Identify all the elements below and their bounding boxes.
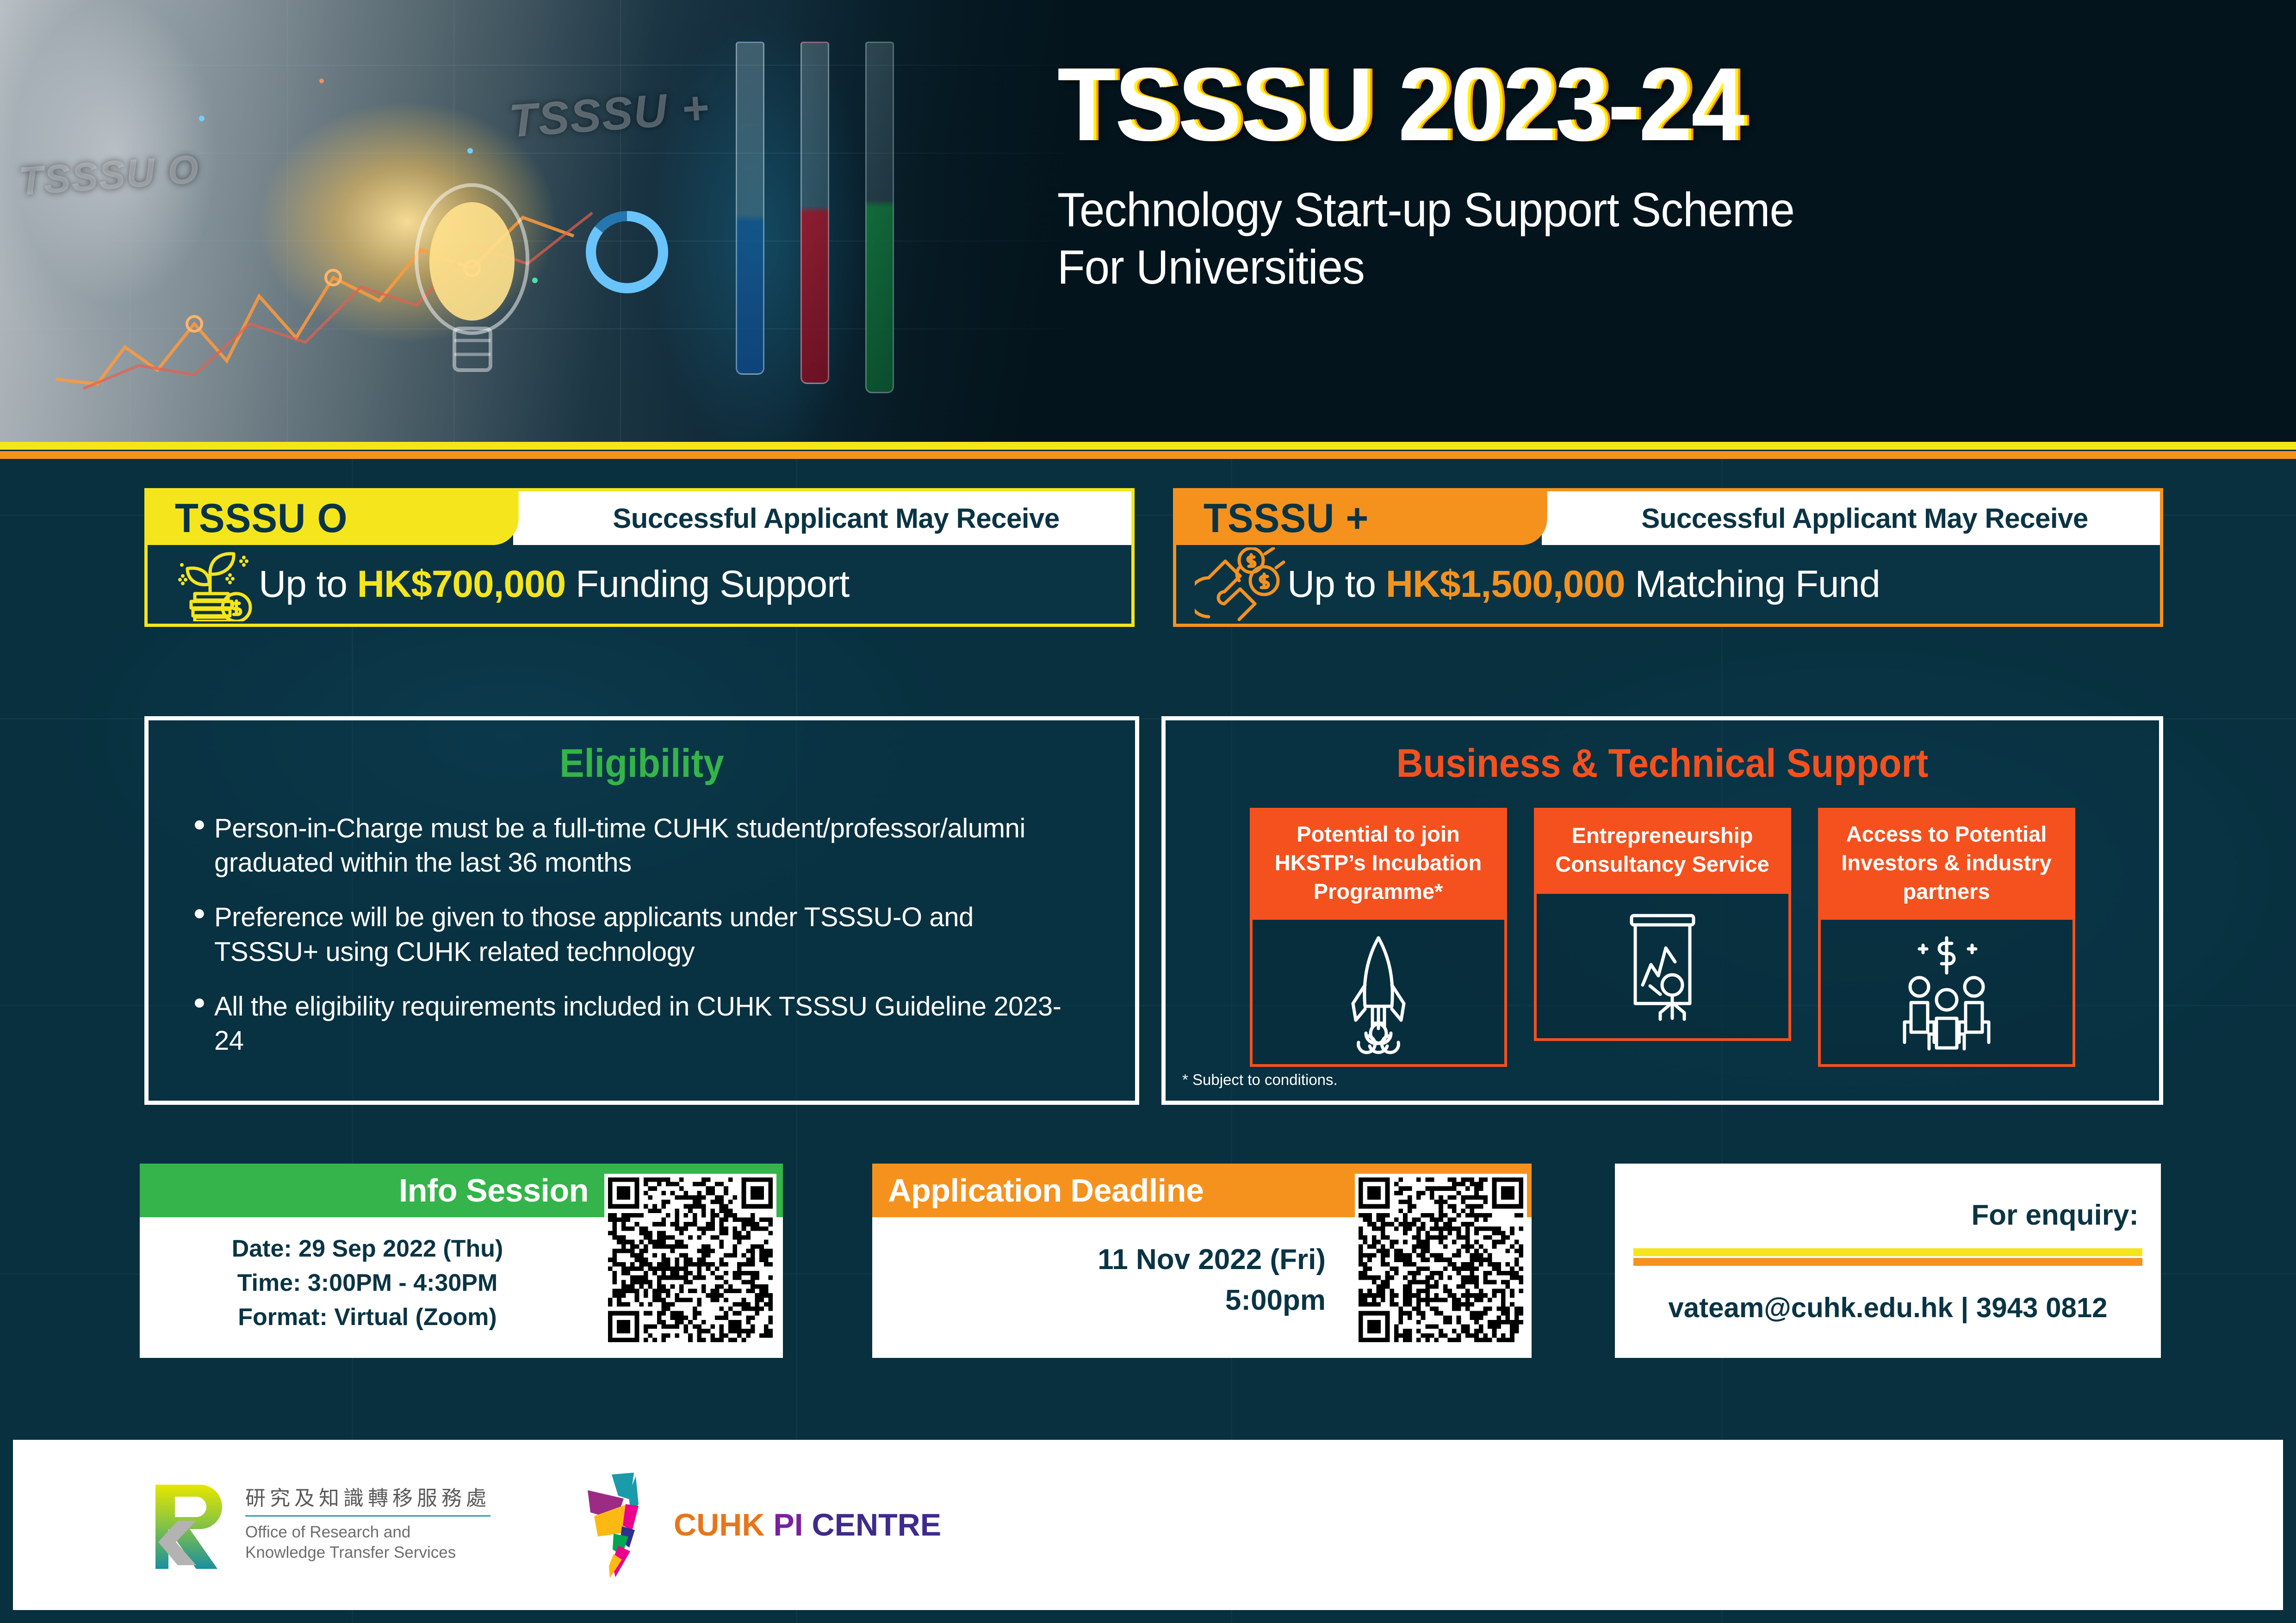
funding-subtitle-tsssu-o: Successful Applicant May Receive: [513, 491, 1131, 545]
orkts-text: 研究及知識轉移服務處 Office of Research and Knowle…: [245, 1487, 490, 1563]
support-panel: Business & Technical Support Potential t…: [1161, 716, 2163, 1105]
amount-suffix: Funding Support: [565, 563, 849, 605]
presentation-chart-icon: [1534, 894, 1791, 1041]
footer-logos: 研究及知識轉移服務處 Office of Research and Knowle…: [13, 1440, 2283, 1610]
money-plant-icon: [166, 547, 259, 621]
support-title: Business & Technical Support: [1200, 741, 2124, 787]
list-item-text: Person-in-Charge must be a full-time CUH…: [214, 811, 1075, 880]
hero-banner: TSSSU O TSSSU + TSSSU 2023-24 Technology…: [0, 0, 2296, 442]
hero-photo: TSSSU O TSSSU +: [0, 0, 1064, 442]
amount-suffix: Matching Fund: [1625, 563, 1880, 605]
orkts-logo: 研究及知識轉移服務處 Office of Research and Knowle…: [152, 1481, 490, 1569]
list-item: ● Preference will be given to those appl…: [193, 900, 1135, 969]
pi-centre-bird-logo-icon: [574, 1472, 666, 1578]
pi-centre-pi: PI: [773, 1507, 803, 1542]
qr-code-application[interactable]: [1355, 1174, 1527, 1346]
support-card-investors: Access to Potential Investors & industry…: [1818, 808, 2075, 1067]
lightbulb-icon: [352, 176, 592, 393]
eligibility-list: ● Person-in-Charge must be a full-time C…: [193, 811, 1135, 1058]
hero-text-block: TSSSU 2023-24 Technology Start-up Suppor…: [1057, 53, 2260, 297]
bullet-icon: ●: [193, 990, 214, 1058]
pi-centre-logo: CUHK PI CENTRE: [574, 1472, 941, 1578]
application-deadline-box: Application Deadline 11 Nov 2022 (Fri) 5…: [872, 1164, 1532, 1358]
qr-code-info-session[interactable]: [604, 1174, 776, 1346]
amount-prefix: Up to: [259, 563, 357, 605]
pi-centre-centre: CENTRE: [812, 1507, 942, 1542]
funding-amount-tsssu-o: Up to HK$700,000 Funding Support: [259, 563, 849, 606]
support-card-label: Entrepreneurship Consultancy Service: [1534, 808, 1791, 894]
donut-gauge-icon: [574, 199, 680, 305]
subtitle-line-1: Technology Start-up Support Scheme: [1057, 181, 2188, 239]
pi-centre-cuhk: CUHK: [674, 1507, 764, 1542]
list-item-text: Preference will be given to those applic…: [214, 900, 1075, 969]
list-item-text: All the eligibility requirements include…: [214, 990, 1075, 1058]
enquiry-stripe-orange: [1633, 1258, 2142, 1266]
list-item: ● All the eligibility requirements inclu…: [193, 990, 1135, 1058]
support-card-consultancy: Entrepreneurship Consultancy Service: [1534, 808, 1791, 1067]
enquiry-box: For enquiry: vateam@cuhk.edu.hk | 3943 0…: [1615, 1164, 2161, 1358]
info-session-date: Date: 29 Sep 2022 (Thu): [160, 1232, 575, 1266]
funding-tag-tsssu-o: TSSSU O: [148, 491, 495, 545]
divider-stripe-yellow: [0, 442, 2296, 450]
eligibility-title: Eligibility: [183, 741, 1101, 787]
orkts-english-line-1: Office of Research and: [245, 1522, 490, 1542]
amount-prefix: Up to: [1287, 563, 1386, 605]
funding-amount-tsssu-plus: Up to HK$1,500,000 Matching Fund: [1287, 563, 1880, 606]
list-item: ● Person-in-Charge must be a full-time C…: [193, 811, 1135, 880]
info-session-format: Format: Virtual (Zoom): [160, 1301, 575, 1335]
support-card-label: Access to Potential Investors & industry…: [1818, 808, 2075, 920]
amount-value: HK$700,000: [357, 563, 565, 605]
divider-stripe-orange: [0, 451, 2296, 459]
investors-meeting-icon: [1818, 920, 2075, 1067]
funding-tag-tsssu-plus: TSSSU +: [1176, 491, 1524, 545]
deadline-date: 11 Nov 2022 (Fri): [893, 1239, 1326, 1280]
orkts-english-line-2: Knowledge Transfer Services: [245, 1542, 490, 1563]
info-session-details: Date: 29 Sep 2022 (Thu) Time: 3:00PM - 4…: [140, 1217, 575, 1334]
orkts-chinese-name: 研究及知識轉移服務處: [245, 1487, 490, 1517]
info-session-box: Info Session Date: 29 Sep 2022 (Thu) Tim…: [140, 1164, 783, 1358]
orkts-r-logo-icon: [152, 1481, 233, 1569]
hero-watermark-right: TSSSU +: [508, 81, 712, 148]
funding-subtitle-tsssu-plus: Successful Applicant May Receive: [1542, 491, 2160, 545]
page-subtitle: Technology Start-up Support Scheme For U…: [1057, 181, 2188, 297]
application-deadline-details: 11 Nov 2022 (Fri) 5:00pm: [872, 1217, 1326, 1321]
funding-card-tsssu-plus: TSSSU + Successful Applicant May Receive…: [1173, 488, 2163, 627]
amount-value: HK$1,500,000: [1386, 563, 1625, 605]
support-card-incubation: Potential to join HKSTP’s Incubation Pro…: [1250, 808, 1507, 1067]
bullet-icon: ●: [193, 900, 214, 969]
magnet-coins-icon: [1195, 547, 1287, 621]
bullet-icon: ●: [193, 811, 214, 880]
rocket-icon: [1250, 920, 1507, 1067]
page-title: TSSSU 2023-24: [1057, 53, 2164, 155]
support-footnote: * Subject to conditions.: [1182, 1071, 1338, 1089]
pi-centre-wordmark: CUHK PI CENTRE: [674, 1507, 941, 1543]
funding-card-tsssu-o: TSSSU O Successful Applicant May Receive: [144, 488, 1135, 627]
support-card-label: Potential to join HKSTP’s Incubation Pro…: [1250, 808, 1507, 920]
support-card-list: Potential to join HKSTP’s Incubation Pro…: [1166, 808, 2159, 1067]
subtitle-line-2: For Universities: [1057, 239, 2188, 297]
enquiry-stripe-yellow: [1633, 1248, 2142, 1256]
enquiry-contact[interactable]: vateam@cuhk.edu.hk | 3943 0812: [1615, 1266, 2161, 1324]
deadline-time: 5:00pm: [893, 1280, 1326, 1321]
info-session-time: Time: 3:00PM - 4:30PM: [160, 1266, 575, 1301]
eligibility-panel: Eligibility ● Person-in-Charge must be a…: [144, 716, 1139, 1105]
enquiry-title: For enquiry:: [1615, 1164, 2161, 1232]
